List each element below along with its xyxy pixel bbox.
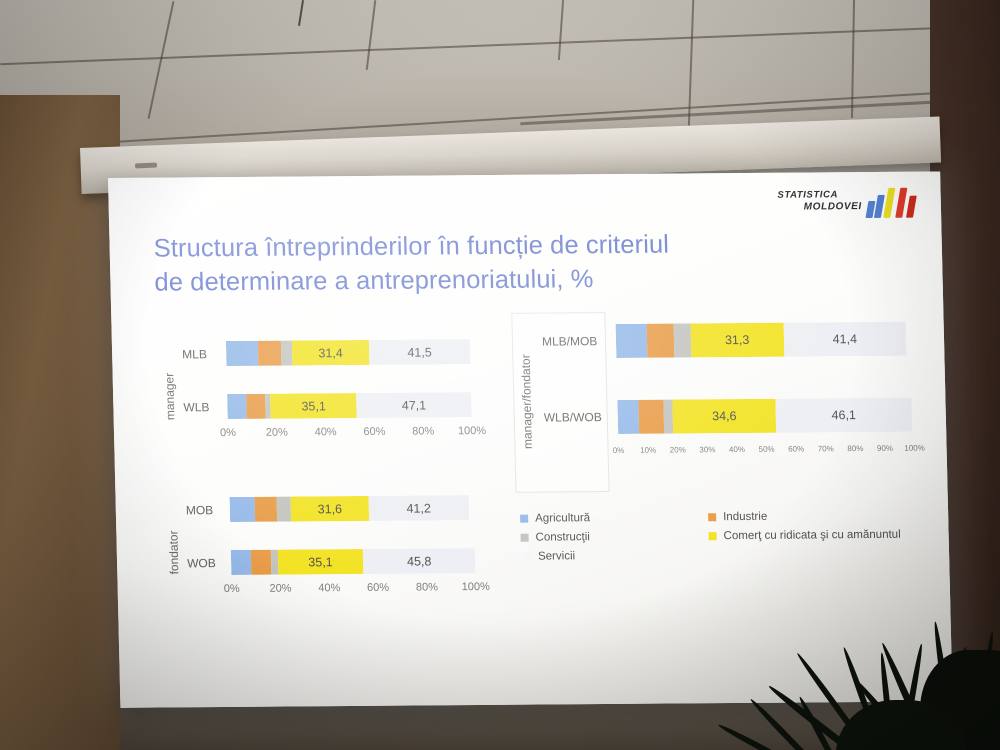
- bar-segment-servicii: 41,2: [368, 495, 469, 521]
- stacked-bar: 31,641,2: [230, 495, 475, 522]
- chart-legend: AgriculturăIndustrieConstrucţiiComerţ cu…: [520, 510, 901, 563]
- title-line-1: Structura întreprinderilor în funcție de…: [153, 227, 794, 266]
- bar-segment-industrie: [254, 497, 277, 522]
- bar-segment-agricultura: [617, 400, 639, 434]
- bar-category-label: MLB/MOB: [542, 334, 616, 349]
- bar-segment-industrie: [258, 341, 282, 366]
- x-axis-tick: 80%: [412, 425, 434, 437]
- legend-label: Construcţii: [535, 531, 590, 543]
- legend-swatch-agricultura: [520, 515, 528, 523]
- legend-label: Comerţ cu ridicata şi cu amănuntul: [723, 529, 900, 542]
- x-axis-tick: 40%: [318, 582, 340, 594]
- bar-segment-comert: 31,4: [292, 340, 369, 366]
- table-row: WOB35,145,8: [187, 548, 476, 575]
- logo-bars-icon: [866, 184, 919, 218]
- presentation-slide: STATISTICA MOLDOVEI Structura întreprind…: [108, 171, 953, 707]
- bar-category-label: MOB: [186, 503, 230, 517]
- bar-segment-agricultura: [231, 550, 251, 575]
- x-axis-tick: 100%: [904, 444, 925, 453]
- table-row: MLB/MOB31,341,4: [542, 322, 913, 359]
- chart-manager-rows: MLB31,441,5WLB35,147,10%20%40%60%80%100%: [182, 329, 473, 461]
- x-axis-tick: 70%: [818, 444, 834, 453]
- x-axis: 0%20%40%60%80%100%: [232, 581, 476, 599]
- chart-manager: manager MLB31,441,5WLB35,147,10%20%40%60…: [160, 329, 473, 461]
- chart-fondator: fondator MOB31,641,2WOB35,145,80%20%40%6…: [163, 485, 476, 617]
- bar-segment-servicii: 41,5: [369, 339, 471, 365]
- legend-item-industrie: Industrie: [708, 510, 900, 524]
- bar-segment-agricultura: [227, 394, 246, 419]
- legend-swatch-comert: [709, 532, 717, 540]
- legend-swatch-industrie: [708, 513, 716, 521]
- x-axis-tick: 20%: [670, 445, 686, 454]
- x-axis-tick: 100%: [462, 581, 490, 593]
- housing-knob: [135, 163, 157, 169]
- slide-title: Structura întreprinderilor în funcție de…: [153, 227, 795, 300]
- logo-text: STATISTICA MOLDOVEI: [777, 189, 862, 214]
- table-row: MOB31,641,2: [186, 495, 475, 522]
- x-axis-tick: 80%: [847, 444, 863, 453]
- room-photo: STATISTICA MOLDOVEI Structura întreprind…: [0, 0, 1000, 750]
- x-axis-tick: 0%: [224, 583, 240, 595]
- bar-category-label: WLB: [183, 400, 227, 414]
- stacked-bar: 35,145,8: [231, 548, 476, 575]
- stacked-bar: 34,646,1: [617, 398, 914, 434]
- chart-manager-fondator: manager/fondator MLB/MOB31,341,4WLB/WOB3…: [511, 310, 915, 491]
- bar-segment-servicii: 41,4: [783, 322, 906, 357]
- x-axis-tick: 100%: [458, 425, 486, 437]
- logo-line-2: MOLDOVEI: [804, 201, 862, 214]
- table-row: WLB/WOB34,646,1: [543, 398, 914, 435]
- bar-segment-industrie: [647, 324, 674, 358]
- x-axis-tick: 50%: [758, 445, 774, 454]
- x-axis-tick: 80%: [416, 581, 438, 593]
- x-axis-tick: 20%: [269, 583, 291, 595]
- legend-label: Servicii: [538, 550, 575, 562]
- legend-label: Industrie: [723, 511, 767, 523]
- legend-label: Agricultură: [535, 512, 590, 524]
- x-axis-tick: 30%: [699, 445, 715, 454]
- legend-swatch-servicii: [523, 553, 531, 561]
- bar-segment-servicii: 45,8: [363, 548, 475, 574]
- x-axis: 0%10%20%30%40%50%60%70%80%90%100%: [618, 444, 914, 462]
- x-axis-tick: 40%: [314, 426, 336, 438]
- chart-manager-group-label: manager: [160, 331, 181, 461]
- bar-segment-comert: 34,6: [673, 399, 776, 434]
- x-axis-tick: 60%: [363, 426, 385, 438]
- x-axis-tick: 0%: [613, 446, 625, 455]
- projection-screen: STATISTICA MOLDOVEI Structura întreprind…: [108, 171, 953, 707]
- x-axis-tick: 40%: [729, 445, 745, 454]
- legend-item-constructii: Construcţii: [520, 530, 690, 543]
- x-axis-tick: 60%: [367, 582, 389, 594]
- bar-segment-servicii: 47,1: [356, 392, 472, 418]
- bar-segment-constructii: [281, 341, 293, 366]
- x-axis-tick: 10%: [640, 446, 656, 455]
- x-axis-tick: 0%: [220, 427, 236, 439]
- bar-segment-industrie: [638, 400, 664, 434]
- table-row: MLB31,441,5: [182, 339, 471, 366]
- bar-category-label: MLB: [182, 347, 226, 361]
- bar-segment-comert: 35,1: [271, 393, 357, 419]
- stacked-bar: 35,147,1: [227, 392, 472, 419]
- x-axis-tick: 60%: [788, 445, 804, 454]
- legend-item-comert: Comerţ cu ridicata şi cu amănuntul: [708, 529, 900, 543]
- bar-segment-comert: 31,3: [690, 323, 783, 358]
- bar-segment-constructii: [277, 497, 292, 522]
- bar-segment-industrie: [246, 394, 266, 419]
- chart-fondator-rows: MOB31,641,2WOB35,145,80%20%40%60%80%100%: [185, 485, 476, 617]
- bar-segment-industrie: [250, 550, 272, 575]
- legend-item-agricultura: Agricultură: [520, 511, 690, 524]
- x-axis: 0%20%40%60%80%100%: [228, 425, 472, 443]
- bar-segment-comert: 31,6: [291, 496, 369, 522]
- bar-segment-constructii: [674, 323, 692, 357]
- bar-segment-servicii: 46,1: [775, 398, 912, 433]
- bar-segment-comert: 35,1: [277, 549, 363, 575]
- title-line-2: de determinare a antreprenoriatului, %: [154, 261, 795, 300]
- stacked-bar: 31,341,4: [616, 322, 913, 358]
- bar-category-label: WOB: [187, 555, 231, 569]
- legend-swatch-constructii: [520, 534, 528, 542]
- legend-item-servicii: Servicii: [523, 549, 691, 562]
- bar-segment-agricultura: [230, 497, 255, 522]
- chart-fondator-group-label: fondator: [163, 487, 184, 617]
- chart-manager-fondator-group-label: manager/fondator: [511, 313, 541, 491]
- bar-category-label: WLB/WOB: [544, 410, 618, 425]
- chart-manager-fondator-rows: MLB/MOB31,341,4WLB/WOB34,646,10%10%20%30…: [541, 310, 915, 491]
- bar-segment-agricultura: [616, 324, 648, 358]
- x-axis-tick: 90%: [877, 444, 893, 453]
- x-axis-tick: 20%: [266, 427, 288, 439]
- left-wall-pillar: [0, 95, 120, 750]
- table-row: WLB35,147,1: [183, 392, 472, 419]
- bar-segment-agricultura: [226, 341, 259, 366]
- statistica-moldovei-logo: STATISTICA MOLDOVEI: [777, 184, 919, 219]
- logo-line-1: STATISTICA: [777, 189, 838, 200]
- stacked-bar: 31,441,5: [226, 339, 471, 366]
